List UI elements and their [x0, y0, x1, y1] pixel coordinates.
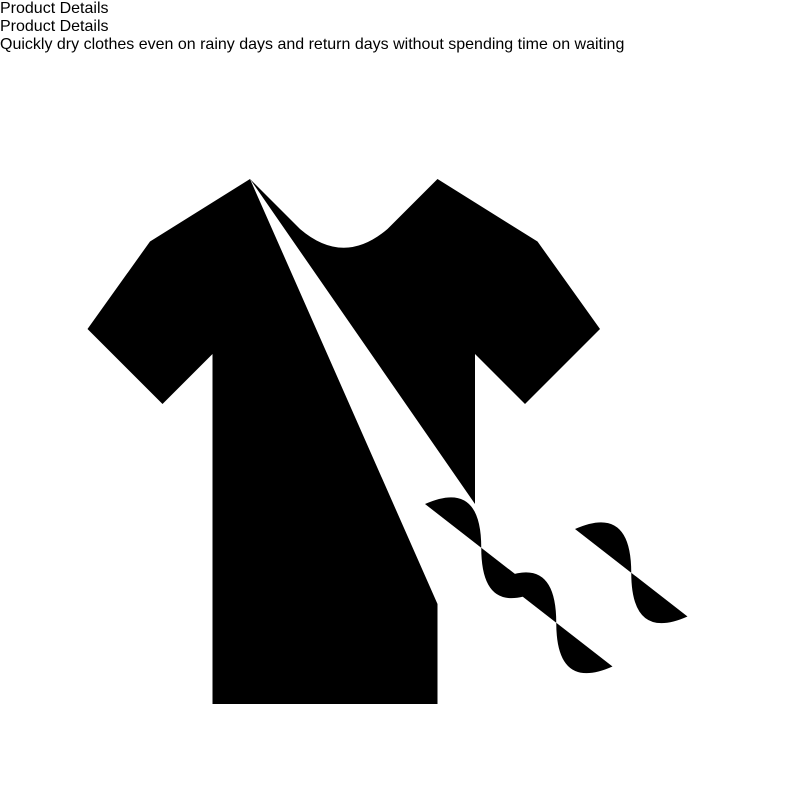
tshirt-drying-icon [0, 54, 800, 800]
feature-icon-disc [0, 54, 800, 800]
subtitle-line-2: days without spending time on waiting [355, 36, 625, 53]
feature-item-rapid-drying[interactable]: Rapid drying [0, 54, 800, 800]
page-subtitle: Quickly dry clothes even on rainy days a… [0, 36, 800, 54]
subtitle-line-1: Quickly dry clothes even on rainy days a… [0, 36, 350, 53]
feature-grid: Rapid drying Evenly fluffy [0, 54, 800, 800]
page-title: Product Details [0, 18, 800, 36]
background-watermark-text: Product Details [0, 0, 800, 18]
product-details-page: Product Details Product Details Quickly … [0, 0, 800, 800]
